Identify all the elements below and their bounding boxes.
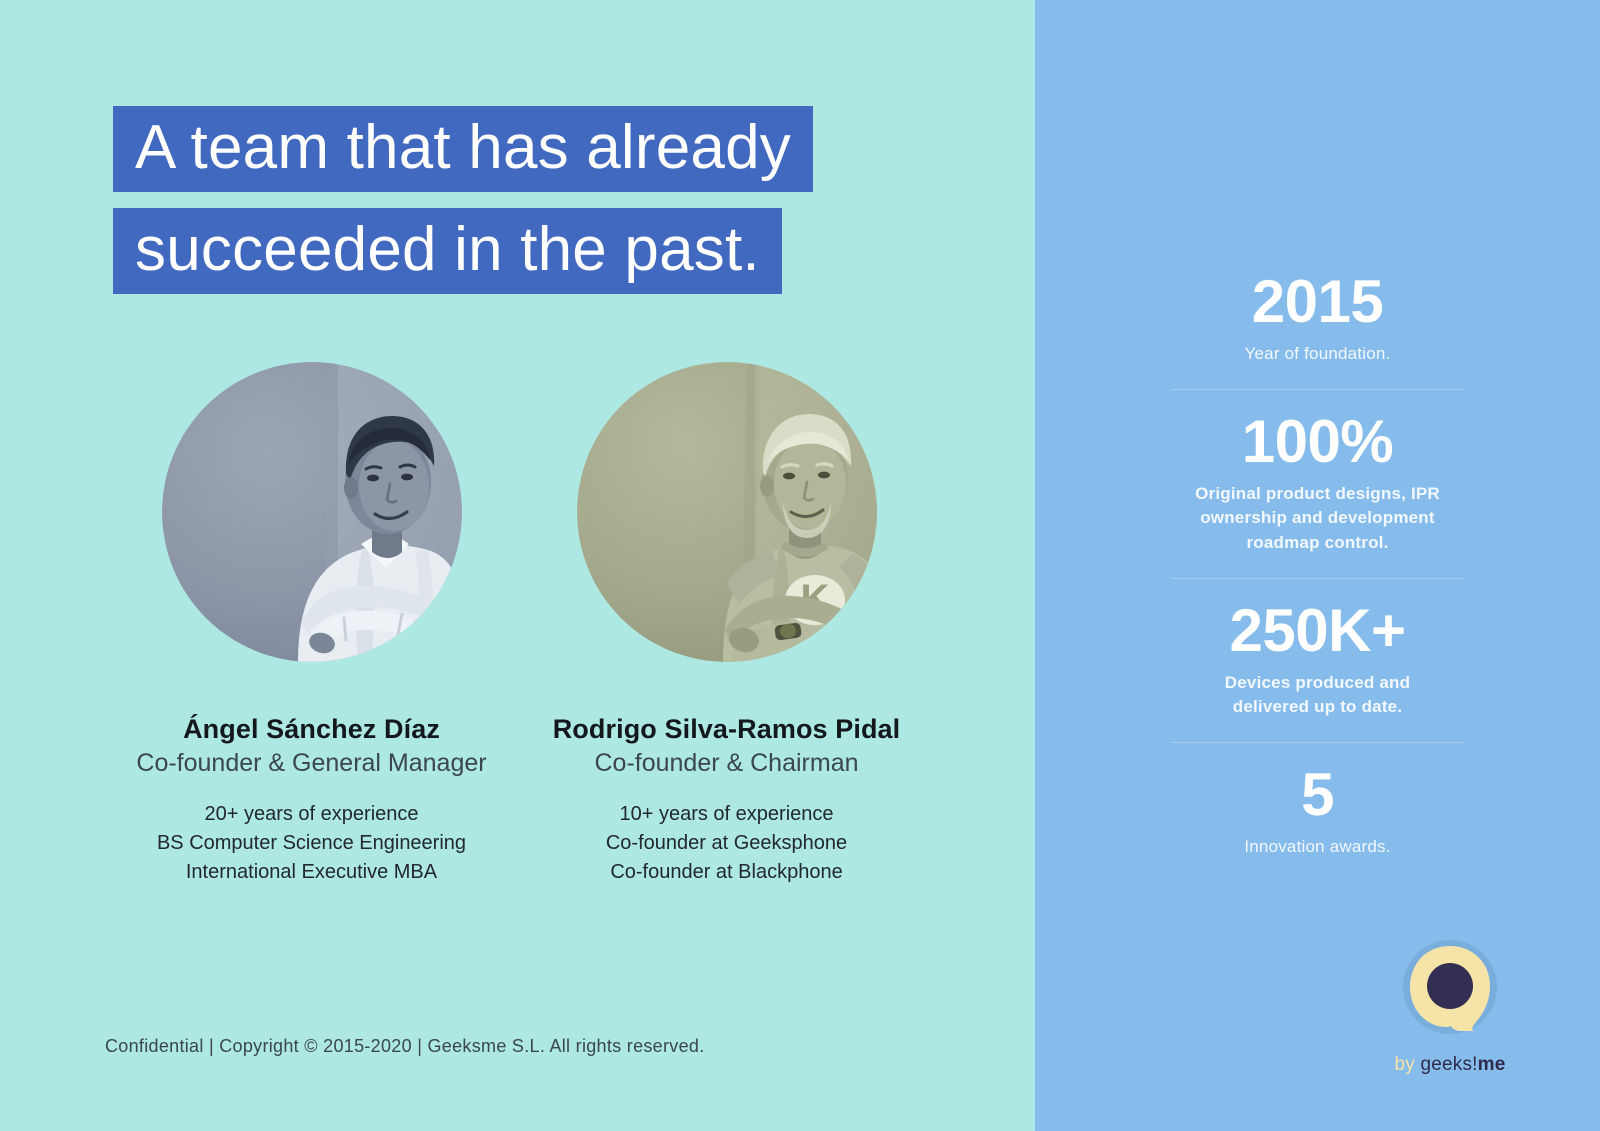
team-member: K Rodrigo Silva-Ramos Pidal Co-founder &… [519, 362, 934, 887]
team-member-role: Co-founder & Chairman [594, 749, 858, 778]
team-list: Ángel Sánchez Díaz Co-founder & General … [104, 362, 934, 887]
brand-by-label: by [1394, 1054, 1420, 1075]
team-member-role: Co-founder & General Manager [136, 749, 486, 778]
stat-item: 250K+ Devices produced and delivered up … [1035, 601, 1600, 720]
avatar: K [577, 362, 877, 662]
brand-me-label: me [1478, 1054, 1506, 1075]
brand-logo: by geeks!me [1380, 930, 1520, 1076]
stat-label: Original product designs, IPR ownership … [1095, 482, 1540, 556]
stat-divider [1171, 742, 1464, 743]
stat-item: 5 Innovation awards. [1035, 765, 1600, 860]
footer-copyright: Confidential | Copyright © 2015-2020 | G… [105, 1036, 705, 1057]
stat-divider [1171, 578, 1464, 579]
stat-divider [1171, 389, 1464, 390]
portrait-angel-sanchez-diaz [162, 362, 462, 662]
avatar [162, 362, 462, 662]
team-member-facts: 20+ years of experience BS Computer Scie… [157, 800, 466, 887]
stat-value: 5 [1095, 765, 1540, 825]
stat-item: 2015 Year of foundation. [1035, 272, 1600, 367]
title-line-2: succeeded in the past. [113, 208, 782, 294]
slide-root: A team that has already succeeded in the… [0, 0, 1600, 1131]
team-member-name: Ángel Sánchez Díaz [183, 714, 440, 745]
portrait-rodrigo-silva-ramos-pidal: K [577, 362, 877, 662]
stat-item: 100% Original product designs, IPR owner… [1035, 412, 1600, 556]
stat-value: 2015 [1095, 272, 1540, 332]
title-line-1: A team that has already [113, 106, 813, 192]
brand-geeks-label: geeks! [1420, 1054, 1477, 1075]
team-member-name: Rodrigo Silva-Ramos Pidal [553, 714, 901, 745]
stat-value: 250K+ [1095, 601, 1540, 661]
team-member: Ángel Sánchez Díaz Co-founder & General … [104, 362, 519, 887]
brand-logo-text: by geeks!me [1394, 1054, 1505, 1076]
stats-panel: 2015 Year of foundation. 100% Original p… [1035, 272, 1600, 859]
slide-title: A team that has already succeeded in the… [113, 106, 813, 294]
stat-label: Innovation awards. [1095, 835, 1540, 860]
geeksme-logo-icon [1391, 930, 1509, 1048]
stat-value: 100% [1095, 412, 1540, 472]
team-member-facts: 10+ years of experience Co-founder at Ge… [606, 800, 847, 887]
stat-label: Devices produced and delivered up to dat… [1095, 671, 1540, 720]
stat-label: Year of foundation. [1095, 342, 1540, 367]
